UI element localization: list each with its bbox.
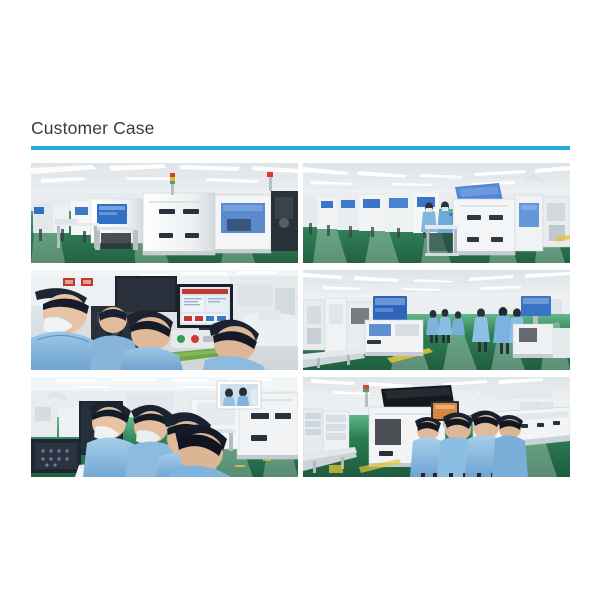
gallery-photo-row3-left[interactable]: Group of workers in blue ESD smocks and …	[31, 377, 298, 477]
customer-case-gallery: SMT production line with white automated…	[31, 163, 570, 477]
gallery-photo-row2-right[interactable]: Factory aisle with green epoxy floor, ye…	[303, 270, 570, 370]
gallery-photo-row1-left[interactable]: SMT production line with white automated…	[31, 163, 298, 263]
gallery-photo-row3-right[interactable]: Workers watching a solder paste printer …	[303, 377, 570, 477]
page-title: Customer Case	[31, 116, 570, 140]
gallery-photo-row2-left[interactable]: Close-up of operators in blue ESD smocks…	[31, 270, 298, 370]
section-header: Customer Case	[31, 116, 570, 150]
page-root: Customer Case SMT production line with w…	[0, 0, 600, 600]
gallery-photo-row1-right[interactable]: Wide factory floor view of rows of SMT e…	[303, 163, 570, 263]
title-underline-rule	[31, 146, 570, 150]
